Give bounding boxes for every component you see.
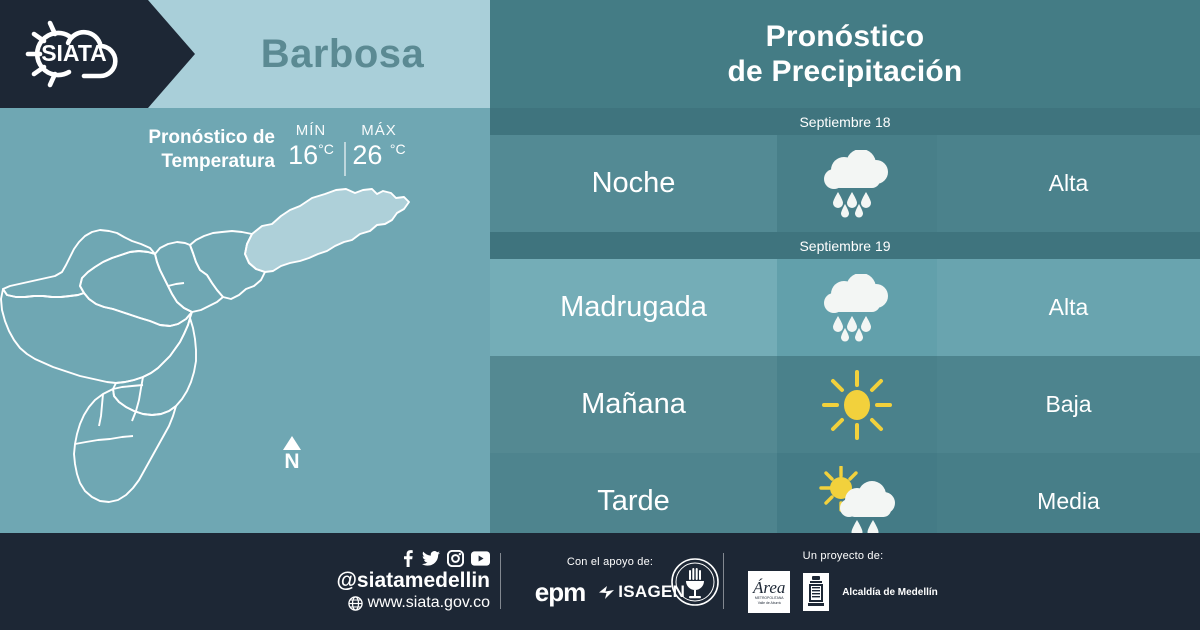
footer-social-block: @siatamedellin www.siata.gov.co [300,533,490,630]
compass-label: N [274,451,310,472]
forecast-level-2: Baja [937,356,1200,453]
project-logos: Área METROPOLITANA Valle de Aburrá [748,571,938,613]
temperature-max: MÁX 26 °C [346,122,412,169]
temperature-max-label: MÁX [346,122,412,139]
precip-title-line1: Pronóstico [766,19,925,54]
youtube-icon[interactable] [471,551,490,566]
temperature-title: Pronóstico de Temperatura [60,126,275,174]
aburra-valley-map [0,168,490,533]
table-row: Mañana Baja [490,356,1200,453]
footer-divider-1 [500,553,501,609]
instagram-icon[interactable] [447,550,464,567]
map-divider-line-3 [99,394,103,426]
forecast-table: Septiembre 18 Noche Alta [490,108,1200,533]
forecast-level-0: Alta [937,135,1200,232]
table-row: Madrugada Alta [490,259,1200,356]
map-divider-line-2 [113,385,143,389]
facebook-icon[interactable] [400,550,415,567]
amva-sub2: Valle de Aburrá [758,601,781,605]
forecast-period-0: Noche [490,135,777,232]
temperature-min-value-wrap: 16°C [278,141,344,169]
map-panel: Pronóstico de Temperatura MÍN 16°C MÁX 2… [0,108,490,533]
compass: N [274,436,310,472]
forecast-date-1: Septiembre 18 [490,108,1200,135]
footer-project-block: Un proyecto de: Área METROPOLITANA Valle… [728,533,958,630]
website-url: www.siata.gov.co [368,593,490,612]
temperature-min-value: 16 [288,140,318,170]
temperature-max-value-wrap: 26 °C [346,141,412,169]
alcaldia-label: Alcaldía de Medellín [842,587,938,598]
globe-icon [348,596,363,611]
alcaldia-logo-icon [803,573,829,611]
footer: @siatamedellin www.siata.gov.co Con el a… [0,533,1200,630]
map-region-barbosa [245,189,409,272]
forecast-date-2: Septiembre 19 [490,232,1200,259]
twitter-icon[interactable] [422,550,440,567]
website-line[interactable]: www.siata.gov.co [348,593,490,612]
map-divider-line-5 [168,283,184,286]
header-band: SIATA Barbosa [0,0,490,108]
forecast-level-1: Alta [937,259,1200,356]
project-caption: Un proyecto de: [803,550,884,562]
map-region-caldas [74,389,176,502]
compass-arrow-icon [283,436,301,450]
temperature-min-unit: °C [318,141,334,157]
siata-logo-icon: SIATA [14,14,136,94]
infographic-root: SIATA Barbosa Pronóstico de Precipitació… [0,0,1200,630]
social-icons [400,550,490,567]
rain-cloud-icon [777,135,937,232]
map-divider-line-4 [75,436,133,444]
forecast-period-1: Madrugada [490,259,777,356]
temperature-max-unit: °C [390,141,406,157]
forecast-period-2: Mañana [490,356,777,453]
table-row: Noche Alta [490,135,1200,232]
rain-cloud-icon [777,259,937,356]
area-metropolitana-logo: Área METROPOLITANA Valle de Aburrá [748,571,790,613]
temperature-title-line1: Pronóstico de [60,126,275,150]
epm-logo: epm [535,577,585,608]
map-region-bello [80,251,192,326]
siata-logo-text: SIATA [41,40,107,66]
map-region-envigado [113,318,196,415]
page-title-city: Barbosa [195,0,490,108]
precipitation-header: Pronóstico de Precipitación [490,0,1200,108]
map-region-copacabana [155,242,223,312]
siata-logo-block: SIATA [0,0,195,108]
social-handle[interactable]: @siatamedellin [336,569,490,593]
temperature-min: MÍN 16°C [278,122,344,169]
footer-seal-block [655,533,735,630]
precip-title-line2: de Precipitación [728,54,963,89]
map-region-northwest [3,230,155,297]
map-region-medellin [1,289,192,383]
amva-script-text: Área [753,579,785,596]
sun-icon [777,356,937,453]
temperature-min-label: MÍN [278,122,344,139]
temperature-max-value: 26 [352,140,382,170]
support-caption: Con el apoyo de: [567,556,653,568]
isagen-mark-icon [598,585,615,600]
medellin-seal-icon [670,557,720,607]
